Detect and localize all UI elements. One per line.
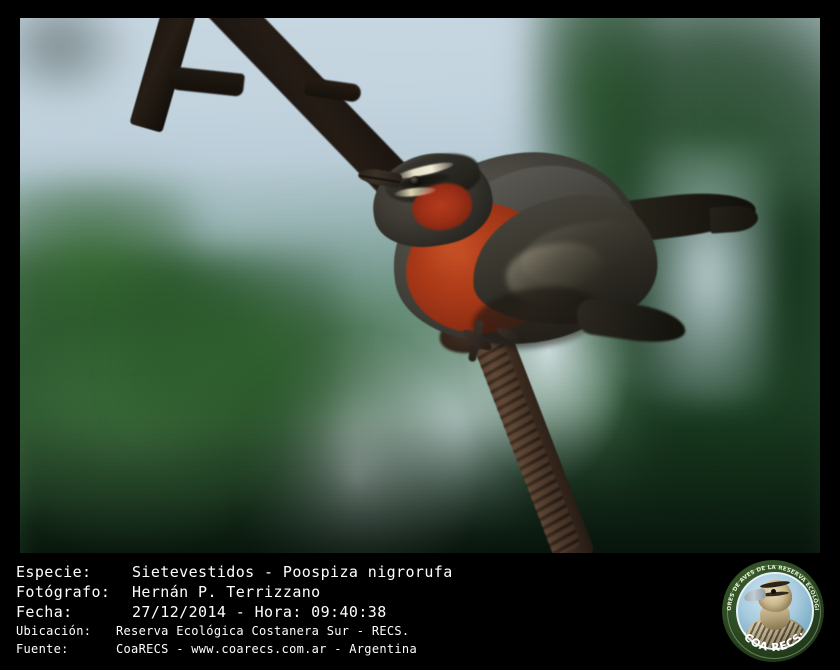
caption-row-fecha: Fecha: 27/12/2014 - Hora: 09:40:38 xyxy=(0,602,710,622)
caption-label-fuente: Fuente: xyxy=(0,640,116,658)
caption-value-fuente: CoaRECS - www.coarecs.com.ar - Argentina xyxy=(116,640,417,658)
logo-ring-text-bottom: ·COA RECS· xyxy=(722,560,824,662)
bird-eye xyxy=(410,176,421,186)
caption-row-fotografo: Fotógrafo: Hernán P. Terrizzano xyxy=(0,582,710,602)
caption-value-especie: Sietevestidos - Poospiza nigrorufa xyxy=(132,562,453,582)
caption-block: Especie: Sietevestidos - Poospiza nigror… xyxy=(0,562,710,670)
bird-photograph xyxy=(20,18,820,553)
caption-label-ubicacion: Ubicación: xyxy=(0,622,116,640)
bird-undertail-coverts xyxy=(574,297,688,348)
caption-label-fotografo: Fotógrafo: xyxy=(0,582,132,602)
caption-row-fuente: Fuente: CoaRECS - www.coarecs.com.ar - A… xyxy=(0,640,710,658)
svg-text:·COA RECS·: ·COA RECS· xyxy=(738,628,808,654)
bird-tail-tip xyxy=(709,204,759,233)
caption-label-especie: Especie: xyxy=(0,562,132,582)
logo-ring-text-bottom-label: ·COA RECS· xyxy=(738,628,808,654)
caption-row-ubicacion: Ubicación: Reserva Ecológica Costanera S… xyxy=(0,622,710,640)
caption-label-fecha: Fecha: xyxy=(0,602,132,622)
coa-recs-logo[interactable]: CLUB DE OBSERVADORES DE AVES DE LA RESER… xyxy=(722,560,824,662)
screenshot-frame: Especie: Sietevestidos - Poospiza nigror… xyxy=(0,0,840,670)
caption-row-especie: Especie: Sietevestidos - Poospiza nigror… xyxy=(0,562,710,582)
caption-value-fotografo: Hernán P. Terrizzano xyxy=(132,582,321,602)
caption-value-ubicacion: Reserva Ecológica Costanera Sur - RECS. xyxy=(116,622,409,640)
bird-subject xyxy=(20,18,820,553)
caption-value-fecha: 27/12/2014 - Hora: 09:40:38 xyxy=(132,602,387,622)
